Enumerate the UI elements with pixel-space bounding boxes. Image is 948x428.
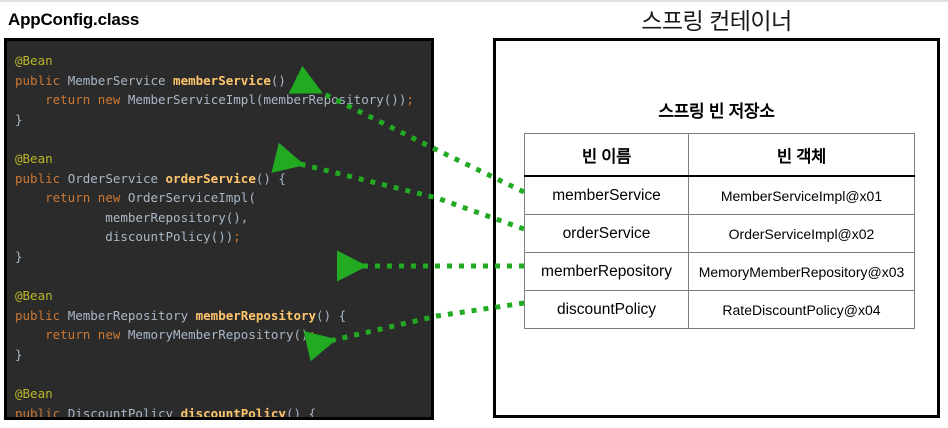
code-token: } <box>15 249 23 264</box>
bean-store-title: 스프링 빈 저장소 <box>496 97 937 122</box>
code-token: } <box>15 347 23 362</box>
code-line: return new MemoryMemberRepository(); <box>15 325 414 345</box>
column-header-bean-name: 빈 이름 <box>525 134 689 177</box>
code-token: MemoryMemberRepository() <box>128 327 309 342</box>
table-row: memberServiceMemberServiceImpl@x01 <box>525 176 915 215</box>
cell-bean-object: MemberServiceImpl@x01 <box>689 176 915 215</box>
code-token: return new <box>45 92 128 107</box>
code-token: @Bean <box>15 53 53 68</box>
code-token: public <box>15 73 68 88</box>
table-row: orderServiceOrderServiceImpl@x02 <box>525 215 915 253</box>
code-token: memberService <box>173 73 271 88</box>
cell-bean-object: RateDiscountPolicy@x04 <box>689 291 915 329</box>
spring-container-box: 스프링 빈 저장소 빈 이름 빈 객체 memberServiceMemberS… <box>493 38 940 418</box>
code-token: () { <box>316 308 346 323</box>
code-line: } <box>15 110 414 130</box>
code-token: ; <box>406 92 414 107</box>
code-token: } <box>15 112 23 127</box>
code-token: () { <box>271 73 301 88</box>
code-token: () { <box>286 406 316 420</box>
cell-bean-name: orderService <box>525 215 689 253</box>
code-token <box>15 92 45 107</box>
code-token: () { <box>256 171 286 186</box>
spring-container-title: 스프링 컨테이너 <box>493 2 940 36</box>
code-token: OrderServiceImpl( <box>128 190 256 205</box>
cell-bean-name: memberRepository <box>525 253 689 291</box>
code-token: ; <box>233 229 241 244</box>
appconfig-code-panel: @Beanpublic MemberService memberService(… <box>4 38 434 420</box>
code-line: public OrderService orderService() { <box>15 169 414 189</box>
bean-registry-table: 빈 이름 빈 객체 memberServiceMemberServiceImpl… <box>524 133 915 329</box>
code-token <box>15 327 45 342</box>
code-token: OrderService <box>68 171 166 186</box>
code-token: public <box>15 406 68 420</box>
code-line <box>15 267 414 287</box>
cell-bean-name: discountPolicy <box>525 291 689 329</box>
table-row: memberRepositoryMemoryMemberRepository@x… <box>525 253 915 291</box>
code-line: public DiscountPolicy discountPolicy() { <box>15 404 414 420</box>
code-token: @Bean <box>15 288 53 303</box>
code-line <box>15 129 414 149</box>
code-line: return new MemberServiceImpl(memberRepos… <box>15 90 414 110</box>
code-token: public <box>15 308 68 323</box>
code-token: ; <box>309 327 317 342</box>
cell-bean-object: MemoryMemberRepository@x03 <box>689 253 915 291</box>
code-line: } <box>15 345 414 365</box>
appconfig-title: AppConfig.class <box>8 10 139 30</box>
code-token: DiscountPolicy <box>68 406 181 420</box>
code-token: discountPolicy()) <box>15 229 233 244</box>
cell-bean-name: memberService <box>525 176 689 215</box>
code-line: @Bean <box>15 51 414 71</box>
code-token: @Bean <box>15 386 53 401</box>
table-row: discountPolicyRateDiscountPolicy@x04 <box>525 291 915 329</box>
code-token: return new <box>45 190 128 205</box>
code-token: MemberService <box>68 73 173 88</box>
column-header-bean-object: 빈 객체 <box>689 134 915 177</box>
diagram-canvas: AppConfig.class @Beanpublic MemberServic… <box>0 0 948 428</box>
code-token: MemberRepository <box>68 308 196 323</box>
code-line: @Bean <box>15 384 414 404</box>
code-token <box>15 190 45 205</box>
table-header-row: 빈 이름 빈 객체 <box>525 134 915 177</box>
code-line: @Bean <box>15 286 414 306</box>
code-line <box>15 365 414 385</box>
code-line: memberRepository(), <box>15 208 414 228</box>
code-line: discountPolicy()); <box>15 227 414 247</box>
code-token: @Bean <box>15 151 53 166</box>
code-token: MemberServiceImpl(memberRepository()) <box>128 92 406 107</box>
code-token: memberRepository(), <box>15 210 248 225</box>
code-line: public MemberRepository memberRepository… <box>15 306 414 326</box>
code-token: discountPolicy <box>181 406 286 420</box>
code-line: return new OrderServiceImpl( <box>15 188 414 208</box>
java-source-code: @Beanpublic MemberService memberService(… <box>15 51 414 420</box>
code-token: memberRepository <box>196 308 316 323</box>
code-token: public <box>15 171 68 186</box>
code-line: public MemberService memberService() { <box>15 71 414 91</box>
code-token: orderService <box>166 171 256 186</box>
code-line: @Bean <box>15 149 414 169</box>
code-line: } <box>15 247 414 267</box>
code-token: return new <box>45 327 128 342</box>
cell-bean-object: OrderServiceImpl@x02 <box>689 215 915 253</box>
